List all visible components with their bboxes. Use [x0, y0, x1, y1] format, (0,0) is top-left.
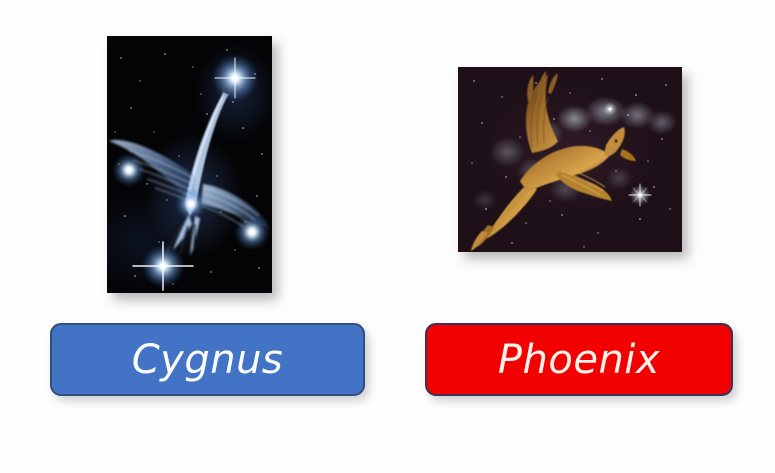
phoenix-choice-button[interactable]: Phoenix	[425, 323, 733, 396]
screen: Cygnus	[0, 0, 775, 473]
phoenix-button-label: Phoenix	[498, 340, 660, 380]
cygnus-choice-button[interactable]: Cygnus	[50, 323, 365, 396]
cygnus-swan-figure	[107, 36, 272, 293]
phoenix-constellation-image[interactable]	[458, 67, 682, 252]
cygnus-constellation-image[interactable]	[107, 36, 272, 293]
cygnus-button-label: Cygnus	[132, 340, 284, 380]
phoenix-bird-figure	[458, 67, 682, 252]
